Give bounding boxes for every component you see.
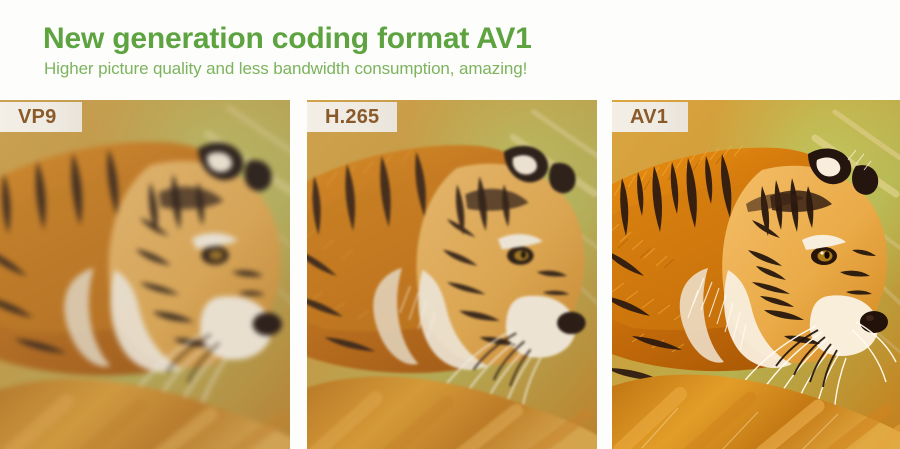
codec-badge-h265: H.265 xyxy=(307,102,397,132)
tiger-photo-vp9 xyxy=(0,100,290,449)
codec-panel-av1[interactable]: AV1 xyxy=(612,100,900,449)
page-subtitle: Higher picture quality and less bandwidt… xyxy=(44,59,527,79)
page-title: New generation coding format AV1 xyxy=(43,22,532,56)
codec-badge-label: AV1 xyxy=(630,107,668,127)
codec-badge-label: VP9 xyxy=(18,107,56,127)
codec-badge-vp9: VP9 xyxy=(0,102,82,132)
codec-panel-h265[interactable]: H.265 xyxy=(307,100,597,449)
tiger-photo-av1 xyxy=(612,100,900,449)
header: New generation coding format AV1 Higher … xyxy=(0,0,900,100)
codec-badge-label: H.265 xyxy=(325,107,379,127)
tiger-photo-h265 xyxy=(307,100,597,449)
codec-comparison-strip: VP9 xyxy=(0,100,900,449)
infographic-page: New generation coding format AV1 Higher … xyxy=(0,0,900,449)
codec-badge-av1: AV1 xyxy=(612,102,688,132)
codec-panel-vp9[interactable]: VP9 xyxy=(0,100,290,449)
